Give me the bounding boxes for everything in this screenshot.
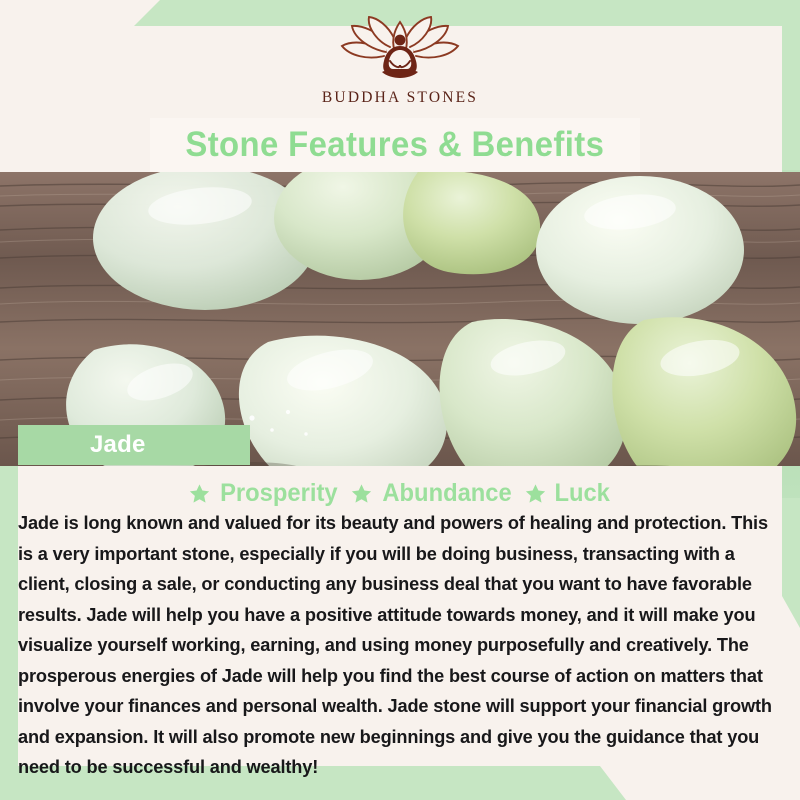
stone-info-card: BUDDHA STONES Stone Features & Benefits xyxy=(0,0,800,800)
benefit-label: Abundance xyxy=(382,479,511,508)
benefit-item-prosperity: Prosperity xyxy=(189,479,341,508)
lotus-meditation-icon xyxy=(334,16,466,82)
decor-strip-left-lower xyxy=(0,466,18,800)
stone-description: Jade is long known and valued for its be… xyxy=(18,508,786,783)
benefits-row: Prosperity Abundance Luck xyxy=(0,479,800,508)
page-title-bar: Stone Features & Benefits xyxy=(150,118,640,172)
jade-stones-photo xyxy=(0,172,800,466)
stone-name: Jade xyxy=(90,431,146,459)
benefit-label: Prosperity xyxy=(220,479,337,508)
brand-name: BUDDHA STONES xyxy=(322,89,478,107)
benefit-item-luck: Luck xyxy=(525,479,611,508)
benefit-label: Luck xyxy=(554,479,609,508)
star-icon xyxy=(525,483,546,504)
brand-logo: BUDDHA STONES xyxy=(322,16,478,107)
page-title: Stone Features & Benefits xyxy=(186,125,605,165)
benefit-item-abundance: Abundance xyxy=(351,479,515,508)
stone-name-banner: Jade xyxy=(18,425,250,465)
star-icon xyxy=(189,483,210,504)
star-icon xyxy=(351,483,372,504)
